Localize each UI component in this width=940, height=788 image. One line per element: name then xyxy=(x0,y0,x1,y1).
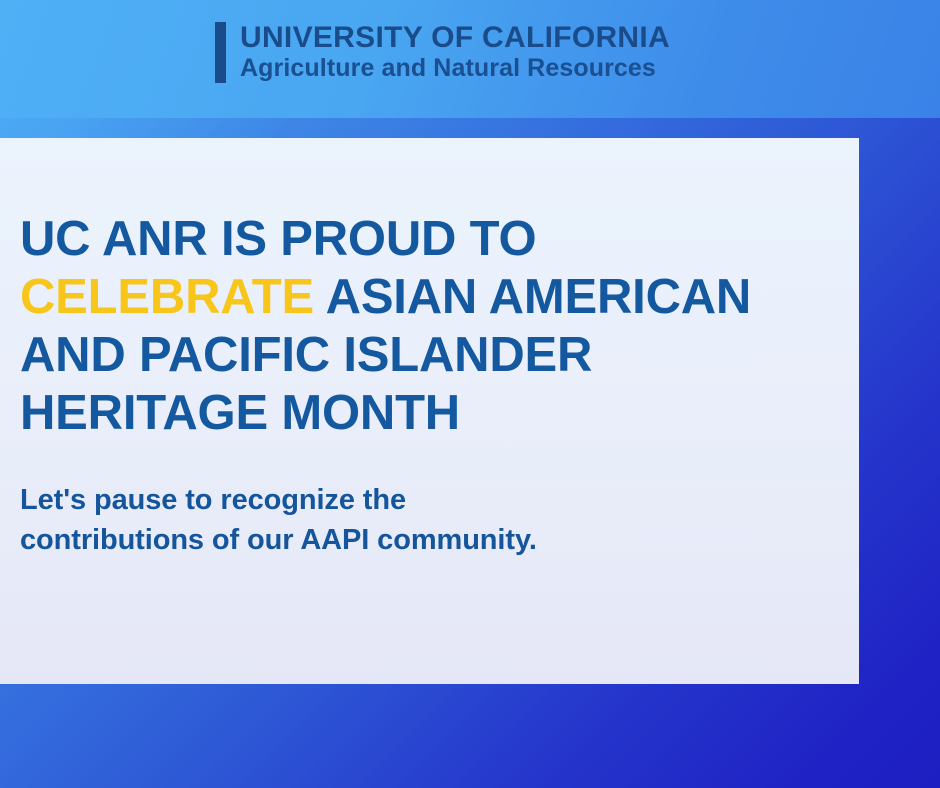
aapi-heritage-month-poster: UNIVERSITY OF CALIFORNIA Agriculture and… xyxy=(0,0,940,788)
subheadline: Let's pause to recognize the contributio… xyxy=(20,442,853,560)
logo-division-line: Agriculture and Natural Resources xyxy=(240,54,670,82)
subheadline-line-1: Let's pause to recognize the xyxy=(20,480,853,520)
logo-text-block: UNIVERSITY OF CALIFORNIA Agriculture and… xyxy=(240,22,670,82)
header-band: UNIVERSITY OF CALIFORNIA Agriculture and… xyxy=(0,0,940,118)
logo-organization-line: UNIVERSITY OF CALIFORNIA xyxy=(240,22,670,54)
headline-line-1: UC ANR IS PROUD TO xyxy=(20,212,536,266)
content-panel: UC ANR IS PROUD TO CELEBRATE ASIAN AMERI… xyxy=(0,138,859,684)
subheadline-line-2: contributions of our AAPI community. xyxy=(20,520,853,560)
headline-line-2-rest: ASIAN AMERICAN xyxy=(314,270,751,324)
logo-vertical-bar-icon xyxy=(215,22,226,83)
headline: UC ANR IS PROUD TO CELEBRATE ASIAN AMERI… xyxy=(20,210,853,442)
headline-accent-word: CELEBRATE xyxy=(20,270,314,324)
uc-anr-logo: UNIVERSITY OF CALIFORNIA Agriculture and… xyxy=(215,22,670,83)
panel-inner: UC ANR IS PROUD TO CELEBRATE ASIAN AMERI… xyxy=(20,210,853,560)
headline-line-4: HERITAGE MONTH xyxy=(20,386,460,440)
headline-line-3: AND PACIFIC ISLANDER xyxy=(20,328,592,382)
